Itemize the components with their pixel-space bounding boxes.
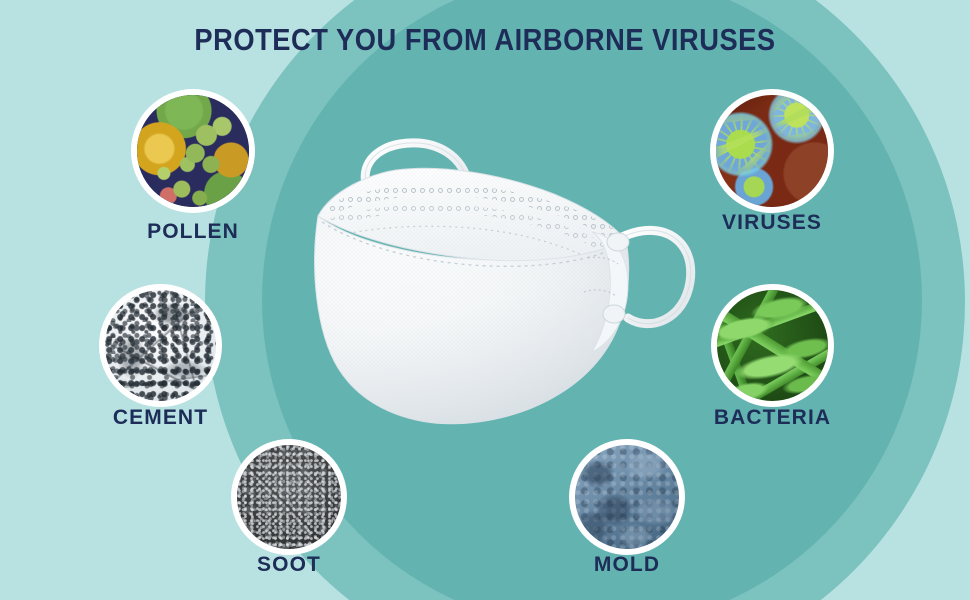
pollen-image-circle xyxy=(131,89,255,213)
feature-item-viruses: VIRUSES xyxy=(710,89,834,213)
bacteria-image-circle xyxy=(711,284,834,407)
item-label-mold: MOLD xyxy=(467,553,787,577)
soot-particles-icon xyxy=(237,445,341,549)
cement-image-circle xyxy=(99,284,222,407)
bacteria-micrograph-icon xyxy=(717,290,828,401)
page-title: PROTECT YOU FROM AIRBORNE VIRUSES xyxy=(58,22,912,58)
mold-image-circle xyxy=(569,439,685,555)
product-infographic-poster: PROTECT YOU FROM AIRBORNE VIRUSES xyxy=(0,0,970,600)
feature-item-cement: CEMENT xyxy=(99,284,222,407)
soot-image-circle xyxy=(231,439,347,555)
feature-item-mold: MOLD xyxy=(569,439,685,555)
item-label-pollen: POLLEN xyxy=(33,220,353,244)
feature-item-soot: SOOT xyxy=(231,439,347,555)
pollen-micrograph-icon xyxy=(137,95,249,207)
feature-item-bacteria: BACTERIA xyxy=(711,284,834,407)
kf94-face-mask-illustration xyxy=(292,132,712,432)
virus-micrograph-icon xyxy=(716,95,828,207)
item-label-soot: SOOT xyxy=(129,553,449,577)
item-label-cement: CEMENT xyxy=(1,406,321,430)
viruses-image-circle xyxy=(710,89,834,213)
item-label-bacteria: BACTERIA xyxy=(613,406,933,430)
item-label-viruses: VIRUSES xyxy=(612,211,932,235)
feature-item-pollen: POLLEN xyxy=(131,89,255,213)
cement-powder-icon xyxy=(105,290,216,401)
mold-texture-icon xyxy=(575,445,679,549)
